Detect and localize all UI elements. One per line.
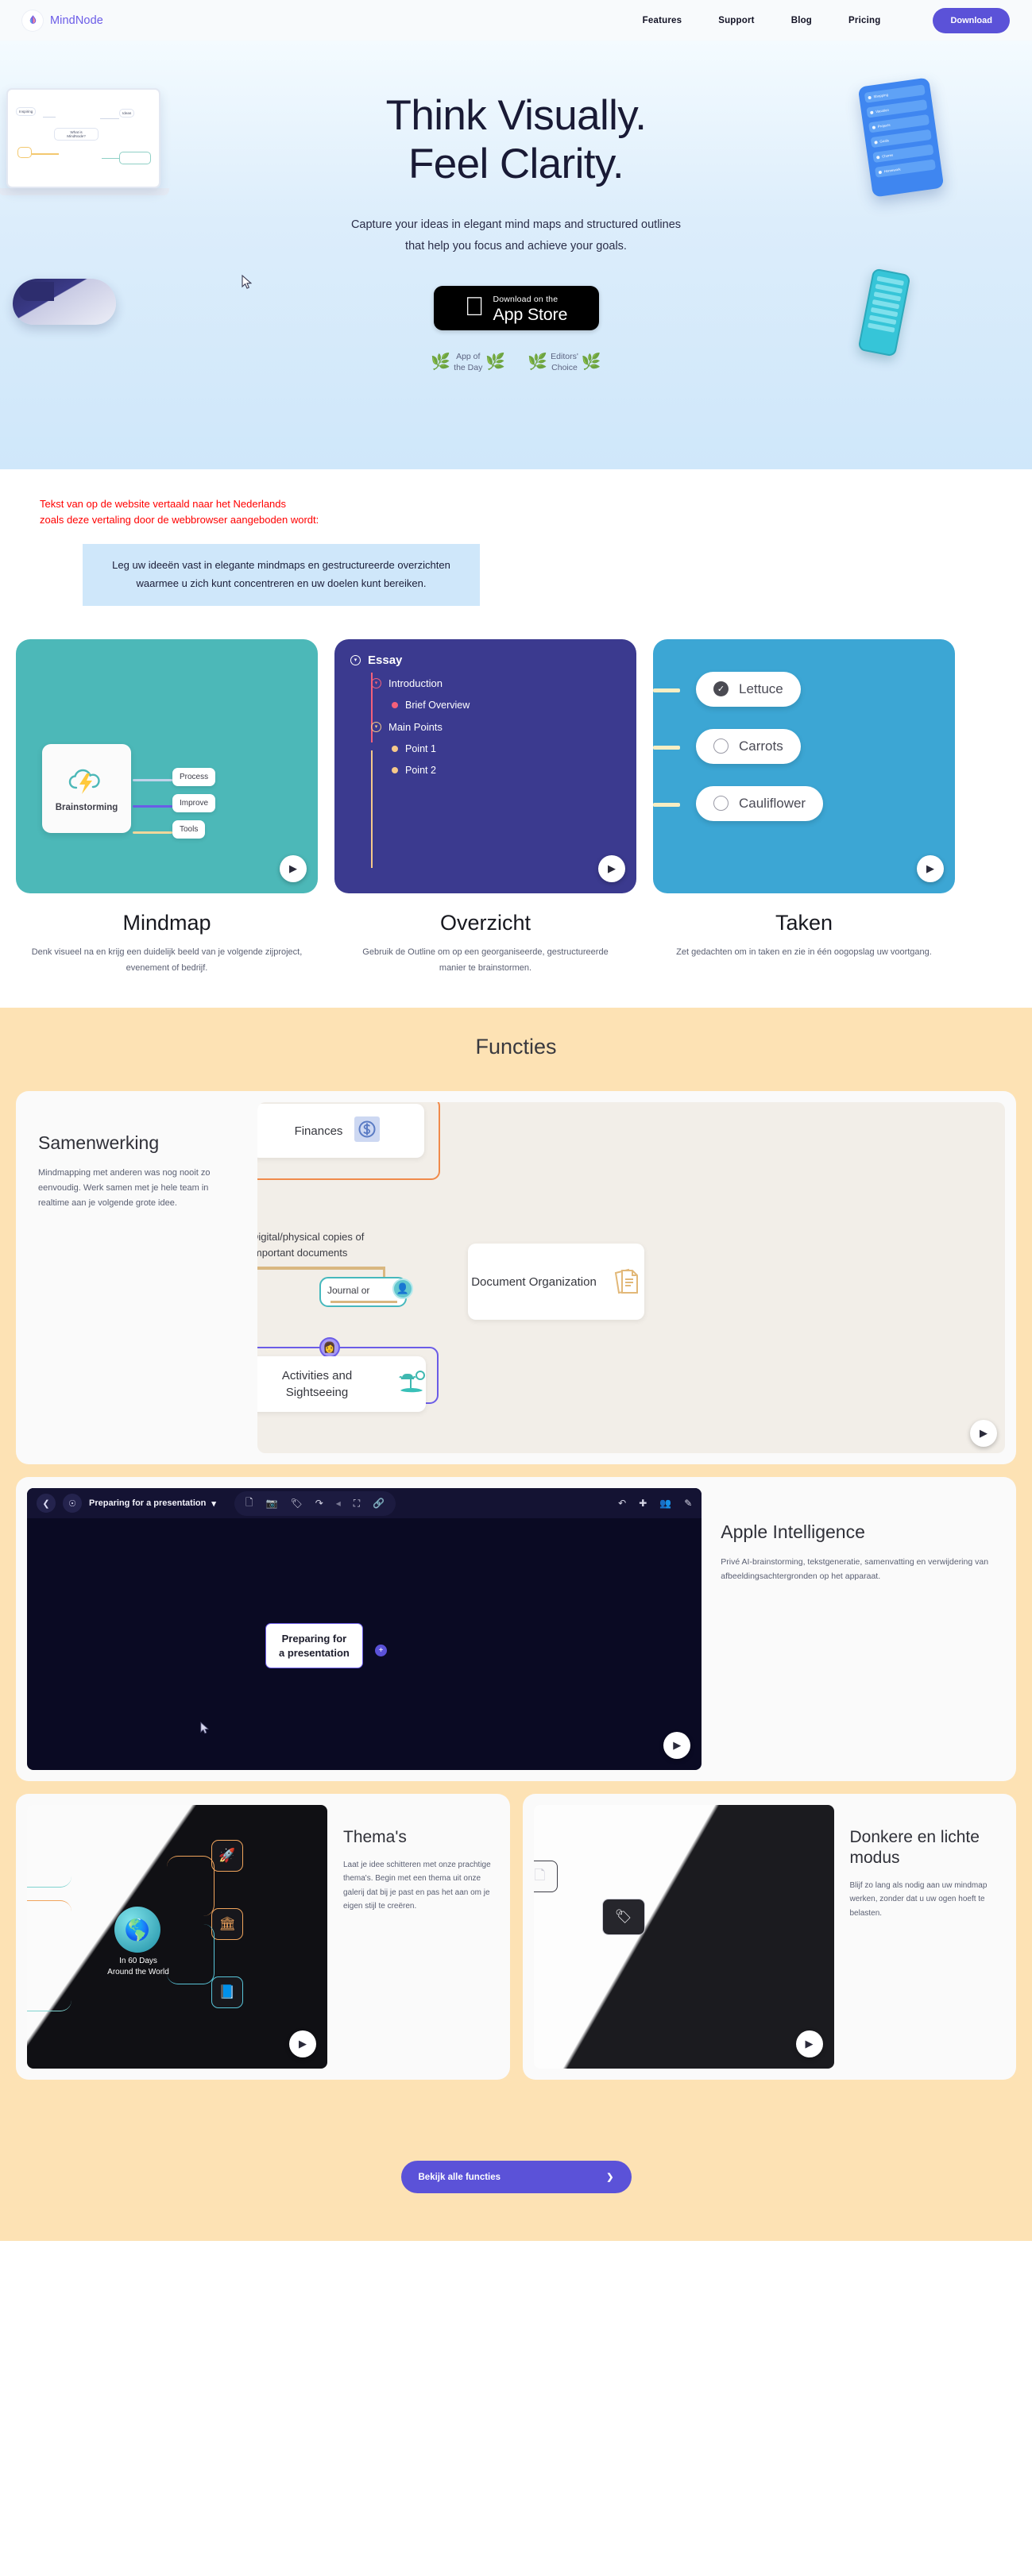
rocket-icon[interactable]: 🚀 bbox=[211, 1840, 243, 1872]
outline-label: Main Points bbox=[388, 721, 443, 733]
mindmap-branch-process[interactable]: Process bbox=[172, 768, 215, 786]
map-rail-documents bbox=[257, 1267, 385, 1269]
landing-page: MindNode Features Support Blog Pricing D… bbox=[0, 0, 1032, 2241]
dark-light-title: Donkere en lichte modus bbox=[850, 1827, 999, 1868]
top-navigation: MindNode Features Support Blog Pricing D… bbox=[0, 0, 1032, 40]
map-note-line-2: important documents bbox=[257, 1247, 347, 1259]
book-icon[interactable]: 📘 bbox=[211, 1976, 243, 2008]
tag-icon[interactable]: 🏷 bbox=[602, 1899, 645, 1935]
mouse-cursor-icon bbox=[200, 1722, 209, 1737]
brand-name: MindNode bbox=[50, 14, 103, 27]
brand[interactable]: MindNode bbox=[22, 10, 103, 31]
connection-icon[interactable]: ↷ bbox=[315, 1498, 323, 1509]
apple-intelligence-title: Apple Intelligence bbox=[721, 1521, 992, 1544]
apple-intelligence-desc: Privé AI-brainstorming, tekstgeneratie, … bbox=[721, 1555, 992, 1584]
collaboration-desc: Mindmapping met anderen was nog nooit zo… bbox=[38, 1166, 224, 1212]
island-icon bbox=[397, 1369, 426, 1399]
page-title: Think Visually. Feel Clarity. bbox=[0, 91, 1032, 189]
card-title-mindmap: Mindmap bbox=[16, 911, 318, 935]
map-journal-underline bbox=[330, 1301, 397, 1303]
apple-intelligence-visual: ❮ ☉ Preparing for a presentation ▾ 🗋 📷 🏷… bbox=[27, 1488, 702, 1770]
card-desc-mindmap: Denk visueel na en krijg een duidelijk b… bbox=[16, 945, 318, 977]
apple-icon:  bbox=[465, 293, 485, 319]
play-button[interactable]: ▶ bbox=[917, 855, 944, 882]
dark-light-visual: 🗋 🏷 ▶ bbox=[534, 1805, 834, 2069]
dark-light-text: Donkere en lichte modus Blijf zo lang al… bbox=[834, 1794, 1017, 2080]
award-line-1: App of bbox=[456, 352, 480, 361]
bullet-dot-icon bbox=[392, 767, 398, 773]
task-item-cauliflower[interactable]: Cauliflower bbox=[696, 786, 823, 821]
task-label: Cauliflower bbox=[739, 796, 806, 812]
outline-label: Brief Overview bbox=[405, 700, 470, 711]
dark-light-desc: Blijf zo lang als nodig aan uw mindmap w… bbox=[850, 1879, 999, 1921]
apple-intelligence-panel: ❮ ☉ Preparing for a presentation ▾ 🗋 📷 🏷… bbox=[16, 1477, 1016, 1781]
map-node-finances[interactable]: Finances bbox=[257, 1104, 424, 1158]
award-app-of-the-day: 🌿 App of the Day 🌿 bbox=[431, 351, 505, 373]
translation-note-text: Tekst van op de website vertaald naar he… bbox=[40, 496, 1032, 528]
themes-visual: 🌎 In 60 Days Around the World 🚀 🏛 📘 ▶ bbox=[27, 1805, 327, 2069]
map-node-document-organization-label: Document Organization bbox=[471, 1274, 597, 1291]
chevron-down-icon: ▾ bbox=[350, 655, 361, 665]
task-label: Lettuce bbox=[739, 681, 783, 697]
play-button[interactable]: ▶ bbox=[289, 2030, 316, 2057]
documents-icon bbox=[611, 1265, 641, 1298]
map-note-line-1: Digital/physical copies of bbox=[257, 1231, 364, 1243]
link-add-icon[interactable]: 🔗 bbox=[373, 1498, 385, 1509]
bullet-dot-icon bbox=[392, 702, 398, 708]
award-line-2: Choice bbox=[551, 363, 578, 372]
map-node-activities-label: Activities and Sightseeing bbox=[257, 1367, 385, 1401]
map-node-finances-label: Finances bbox=[295, 1124, 343, 1138]
themes-text: Thema's Laat je idee schitteren met onze… bbox=[327, 1794, 510, 2080]
outline-icon[interactable]: 🗋 bbox=[534, 1861, 558, 1892]
outline-row-brief-overview[interactable]: Brief Overview bbox=[392, 700, 470, 711]
canvas-tool-group: 🗋 📷 🏷 ↷ ◂ ⛶ 🔗 bbox=[234, 1491, 396, 1516]
images-icon[interactable]: 📷 bbox=[266, 1498, 278, 1509]
mindnode-leaf-logo-icon bbox=[22, 10, 43, 31]
chevron-down-icon: ▾ bbox=[371, 722, 381, 732]
feature-card-taken: ✓ Lettuce Carrots Cauliflower ▶ Taken Ze… bbox=[653, 639, 955, 977]
cta-band: Bekijk alle functies ❯ bbox=[0, 2127, 1032, 2241]
collaboration-visual: Plans Expenses s Finances Digital/physic… bbox=[257, 1102, 1005, 1453]
building-icon[interactable]: 🏛 bbox=[211, 1908, 243, 1940]
nav-link-pricing[interactable]: Pricing bbox=[848, 16, 880, 25]
themes-desc: Laat je idee schitteren met onze prachti… bbox=[343, 1858, 493, 1914]
mindmap-branch-tools[interactable]: Tools bbox=[172, 820, 205, 839]
play-button[interactable]: ▶ bbox=[280, 855, 307, 882]
focus-icon[interactable]: ⛶ bbox=[354, 1498, 360, 1510]
apple-intelligence-text: Apple Intelligence Privé AI-brainstormin… bbox=[702, 1477, 1016, 1781]
sticker-icon[interactable]: ◂ bbox=[336, 1498, 341, 1509]
task-item-carrots[interactable]: Carrots bbox=[696, 729, 801, 764]
outline-icon[interactable]: 🗋 bbox=[245, 1495, 253, 1512]
undo-icon[interactable]: ↶ bbox=[618, 1498, 626, 1509]
themes-panel: 🌎 In 60 Days Around the World 🚀 🏛 📘 ▶ Th… bbox=[16, 1794, 510, 2080]
map-node-document-organization[interactable]: Document Organization bbox=[468, 1244, 644, 1320]
checkbox-empty-icon[interactable] bbox=[713, 738, 729, 754]
laurel-left-icon: 🌿 bbox=[528, 352, 547, 372]
canvas-root-node[interactable]: Preparing for a presentation bbox=[265, 1623, 363, 1668]
download-button[interactable]: Download bbox=[933, 8, 1010, 33]
mouse-cursor-icon bbox=[242, 275, 252, 293]
themes-title: Thema's bbox=[343, 1827, 493, 1848]
task-stub bbox=[653, 746, 680, 750]
map-note-documents: Digital/physical copies of important doc… bbox=[257, 1229, 410, 1260]
play-button[interactable]: ▶ bbox=[663, 1732, 690, 1759]
award-line-1: Editors' bbox=[551, 352, 578, 361]
globe-icon: 🌎 bbox=[114, 1907, 160, 1953]
mindmap-center-node[interactable]: Brainstorming bbox=[42, 744, 131, 833]
nav-links: Features Support Blog Pricing Download bbox=[643, 8, 1010, 33]
outline-label: Point 1 bbox=[405, 743, 436, 754]
canvas-root-node-line-1: Preparing for bbox=[282, 1633, 347, 1645]
view-all-features-button[interactable]: Bekijk alle functies ❯ bbox=[401, 2161, 632, 2193]
themes-center-line-1: In 60 Days bbox=[119, 1957, 157, 1965]
collaboration-title: Samenwerking bbox=[38, 1132, 224, 1155]
canvas-tool-group-right: ↶ ✚ 👥 ✎ bbox=[618, 1498, 692, 1509]
task-stub bbox=[653, 688, 680, 692]
chevron-down-icon[interactable]: ▾ bbox=[211, 1498, 216, 1509]
laurel-right-icon: 🌿 bbox=[485, 352, 505, 372]
collaboration-text: Samenwerking Mindmapping met anderen was… bbox=[16, 1091, 246, 1464]
theme-curve-3 bbox=[27, 1961, 72, 2011]
outline-row-point-2[interactable]: Point 2 bbox=[392, 765, 470, 776]
outline-row-introduction[interactable]: ▾ Introduction bbox=[371, 677, 470, 689]
canvas-document-title[interactable]: Preparing for a presentation ▾ bbox=[89, 1498, 216, 1509]
tag-icon[interactable]: 🏷 bbox=[290, 1498, 302, 1509]
functies-section: Functies Samenwerking Mindmapping met an… bbox=[0, 1008, 1032, 2127]
card-title-taken: Taken bbox=[653, 911, 955, 935]
feature-card-mindmap: Brainstorming Process Improve Tools ▶ Mi… bbox=[16, 639, 318, 977]
mindmap-branch-line-1 bbox=[133, 779, 172, 781]
theme-curve-4 bbox=[167, 1856, 215, 1916]
app-store-button[interactable]:  Download on the App Store bbox=[434, 286, 599, 330]
award-editors-choice: 🌿 Editors' Choice 🌿 bbox=[528, 351, 601, 373]
nav-link-support[interactable]: Support bbox=[718, 16, 754, 25]
outline-label: Introduction bbox=[388, 677, 443, 689]
outline-row-point-1[interactable]: Point 1 bbox=[392, 743, 470, 754]
awards-row: 🌿 App of the Day 🌿 🌿 Editors' Choice 🌿 bbox=[0, 351, 1032, 373]
card-title-overzicht: Overzicht bbox=[334, 911, 636, 935]
mindmap-branch-line-2 bbox=[133, 805, 172, 808]
card-desc-overzicht: Gebruik de Outline om op een georganisee… bbox=[334, 945, 636, 977]
canvas-root-node-line-2: a presentation bbox=[279, 1647, 350, 1659]
mindmap-branch-improve[interactable]: Improve bbox=[172, 794, 215, 812]
hero-title-line-1: Think Visually. bbox=[386, 92, 647, 139]
app-store-small-label: Download on the bbox=[493, 295, 558, 304]
play-button[interactable]: ▶ bbox=[598, 855, 625, 882]
themes-center-line-2: Around the World bbox=[107, 1968, 169, 1976]
play-button[interactable]: ▶ bbox=[796, 2030, 823, 2057]
outline-row-main-points[interactable]: ▾ Main Points bbox=[371, 721, 470, 733]
bullet-dot-icon bbox=[392, 746, 398, 752]
task-label: Carrots bbox=[739, 738, 783, 754]
award-line-2: the Day bbox=[454, 363, 482, 372]
task-stub bbox=[653, 803, 680, 807]
laurel-right-icon: 🌿 bbox=[582, 352, 601, 372]
nav-link-features[interactable]: Features bbox=[643, 16, 682, 25]
hero-section: What is MindNode? Inspiring Ideas Sh bbox=[0, 40, 1032, 469]
map-node-activities[interactable]: Activities and Sightseeing bbox=[257, 1356, 426, 1412]
pen-icon[interactable]: ✎ bbox=[684, 1498, 692, 1509]
hero-subtitle: Capture your ideas in elegant mind maps … bbox=[346, 214, 687, 257]
theme-curve-2 bbox=[27, 1900, 72, 1951]
checkbox-empty-icon[interactable] bbox=[713, 796, 729, 811]
bottom-feature-row: 🌎 In 60 Days Around the World 🚀 🏛 📘 ▶ Th… bbox=[16, 1794, 1016, 2080]
plus-icon[interactable]: + bbox=[375, 1645, 387, 1656]
hero-title-line-2: Feel Clarity. bbox=[408, 141, 624, 187]
dollar-sign-icon bbox=[354, 1116, 381, 1146]
functies-heading: Functies bbox=[0, 1035, 1032, 1059]
task-item-lettuce[interactable]: ✓ Lettuce bbox=[696, 672, 801, 707]
translation-note-line-2: zoals deze vertaling door de webbrowser … bbox=[40, 514, 319, 526]
chevron-down-icon: ▾ bbox=[371, 678, 381, 688]
translated-text-box: Leg uw ideeën vast in elegante mindmaps … bbox=[83, 544, 480, 606]
outline-list: ▾ Essay ▾ Introduction Brief Overview ▾ … bbox=[350, 654, 470, 786]
feature-card-overzicht: ▾ Essay ▾ Introduction Brief Overview ▾ … bbox=[334, 639, 636, 977]
view-all-features-label: Bekijk alle functies bbox=[419, 2173, 501, 2182]
outline-label: Point 2 bbox=[405, 765, 436, 776]
nav-link-blog[interactable]: Blog bbox=[791, 16, 812, 25]
translation-note: Tekst van op de website vertaald naar he… bbox=[0, 469, 1032, 606]
brainstorm-cloud-bolt-icon bbox=[65, 764, 108, 801]
map-journal-field-value: Journal or bbox=[327, 1285, 369, 1296]
chevron-left-icon[interactable]: ❮ bbox=[37, 1494, 56, 1513]
card-desc-taken: Zet gedachten om in taken en zie in één … bbox=[653, 945, 955, 961]
outline-label: Essay bbox=[368, 654, 402, 667]
share-icon[interactable]: 👥 bbox=[659, 1498, 671, 1509]
collaboration-panel: Samenwerking Mindmapping met anderen was… bbox=[16, 1091, 1016, 1464]
feature-cards: Brainstorming Process Improve Tools ▶ Mi… bbox=[0, 606, 1032, 977]
outline-row-essay[interactable]: ▾ Essay bbox=[350, 654, 470, 667]
theme-curve-5 bbox=[167, 1924, 215, 1984]
dark-light-panel: 🗋 🏷 ▶ Donkere en lichte modus Blijf zo l… bbox=[523, 1794, 1017, 2080]
mindmap-branch-line-3 bbox=[133, 831, 172, 834]
add-node-icon[interactable]: ✚ bbox=[639, 1498, 647, 1509]
canvas-document-title-label: Preparing for a presentation bbox=[89, 1498, 206, 1508]
check-icon[interactable]: ✓ bbox=[713, 681, 729, 696]
hero-content: Think Visually. Feel Clarity. Capture yo… bbox=[0, 40, 1032, 373]
app-store-big-label: App Store bbox=[493, 305, 567, 324]
bearded-man-avatar[interactable]: 👤 bbox=[392, 1278, 413, 1299]
mindmap-center-label: Brainstorming bbox=[56, 803, 118, 812]
chevron-right-icon: ❯ bbox=[606, 2172, 613, 2182]
mindmap-visual: Brainstorming Process Improve Tools ▶ bbox=[16, 639, 318, 893]
tasks-visual: ✓ Lettuce Carrots Cauliflower ▶ bbox=[653, 639, 955, 893]
canvas-toolbar: ❮ ☉ Preparing for a presentation ▾ 🗋 📷 🏷… bbox=[27, 1488, 702, 1518]
mindnode-icon[interactable]: ☉ bbox=[63, 1494, 82, 1513]
laurel-left-icon: 🌿 bbox=[431, 352, 450, 372]
translation-note-line-1: Tekst van op de website vertaald naar he… bbox=[40, 498, 286, 510]
play-button[interactable]: ▶ bbox=[970, 1420, 997, 1447]
theme-curve-1 bbox=[27, 1837, 72, 1888]
outline-visual: ▾ Essay ▾ Introduction Brief Overview ▾ … bbox=[334, 639, 636, 893]
